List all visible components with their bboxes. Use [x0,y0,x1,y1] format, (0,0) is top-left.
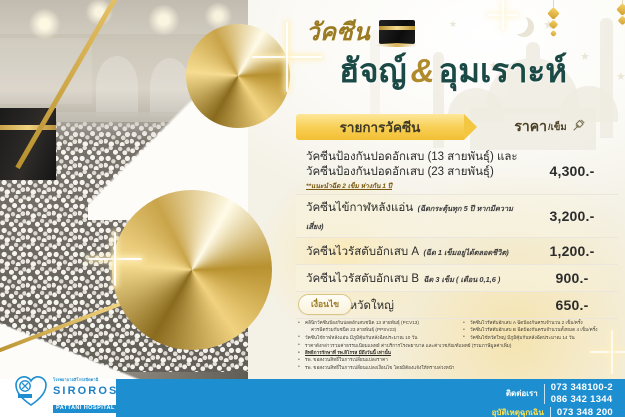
vaccine-name-line-1: วัคซีนไวรัสตับอักเสบ A [306,246,419,258]
vaccine-name-line-1: วัคซีนไวรัสตับอักเสบ B [306,273,419,285]
contact-info: ติดต่อเรา 073 348100-2 086 342 1344 อุบั… [492,382,613,417]
emergency-phone-row: อุบัติเหตุฉุกเฉิน 073 348 200 [492,406,613,417]
vaccine-name-cell: วัคซีนไวรัสตับอักเสบ A (ฉีด 1 เข็มอยู่ได… [296,242,526,260]
table-row: วัคซีนป้องกันปอดอักเสบ (13 สายพันธุ์) แล… [296,147,618,195]
phone-number[interactable]: 073 348100-2 [551,382,613,394]
condition-item: วัคซีนไวรัสตับอักเสบ B ฉีดป้องกันครบจำนว… [463,326,618,333]
hospital-logo: โรงพยาบาลสิโรรสปัตตานี SIROROS PATTANI H… [14,369,118,413]
condition-item-link[interactable]: สิทธิการรักษาที่ รพ.สิโรรส มีถึงวันนี้ เ… [298,349,618,356]
conditions-columns: คลินิกวัคซีนป้องกันปอดอักเสบชนิด 13 สายพ… [298,319,618,341]
conditions-column-right: วัคซีนไวรัสตับอักเสบ A ฉีดป้องกันครบจำนว… [463,319,618,341]
footer: โรงพยาบาลสิโรรสปัตตานี SIROROS PATTANI H… [0,379,625,417]
contact-label: ติดต่อเรา [506,387,538,400]
logo-text: โรงพยาบาลสิโรรสปัตตานี SIROROS PATTANI H… [53,369,118,413]
contact-phone-numbers: 073 348100-2 086 342 1344 [551,382,613,405]
vaccine-price-cell: 900.- [526,270,618,286]
contact-phone-row: ติดต่อเรา 073 348100-2 086 342 1344 [492,382,613,405]
phone-number[interactable]: 086 342 1344 [551,394,613,406]
vaccine-name-line-1: วัคซีนไข้กาฬหลังแอ่น [306,202,413,214]
table-row: วัคซีนไข้กาฬหลังแอ่น (ฉีดกระตุ้นทุก 5 ปี… [296,195,618,238]
column-header-price: ราคา /เข็ม [464,114,618,140]
condition-item: วัคซีนไข้หวัดใหญ่ มีภูมิคุ้มกันหลังฉีดปร… [463,334,618,341]
price-table: รายการวัคซีน ราคา /เข็ม [296,113,618,319]
conditions-badge: เงื่อนไข [298,294,352,315]
vaccine-name-cell: วัคซีนไข้กาฬหลังแอ่น (ฉีดกระตุ้นทุก 5 ปี… [296,198,526,234]
condition-item: รพ. ขอสงวนสิทธิ์ในการเปลี่ยนแปลงราคา [298,356,618,363]
table-header-row: รายการวัคซีน ราคา /เข็ม [296,113,618,141]
emergency-phone-number[interactable]: 073 348 200 [557,407,613,417]
couple-photo-bg [118,196,266,344]
vial-label [264,90,286,112]
conditions-column-left: คลินิกวัคซีนป้องกันปอดอักเสบชนิด 13 สายพ… [298,319,453,341]
vaccine-name-line-2: วัคซีนป้องกันปอดอักเสบ (23 สายพันธุ์) [306,165,526,180]
condition-item: วัคซีนไวรัสตับอักเสบ A ฉีดป้องกันครบจำนว… [463,319,618,326]
ampersand: & [407,52,439,89]
logo-thai-name: โรงพยาบาลสิโรรสปัตตานี [53,377,98,382]
divider [544,384,545,404]
column-header-vaccine-name: รายการวัคซีน [296,114,464,140]
pilgrim-couple-photo [118,196,266,344]
headline-line-2: ฮัจญ์&อุมเราะห์ [284,44,622,97]
vaccine-price-cell: 3,200.- [526,208,618,224]
syringe-icon [572,118,586,137]
vial-icon [224,80,250,122]
condition-item: ราคาดังกล่าวรวมค่าธรรมเนียมแพทย์ ค่าบริก… [298,342,618,349]
headline: วัคซีน ฮัจญ์&อุมเราะห์ [284,16,622,97]
vaccine-note: (ฉีด 1 เข็มอยู่ได้ตลอดชีวิต) [423,248,508,257]
headline-line-1: วัคซีน [284,16,622,46]
heart-cross-logo-icon [14,375,48,407]
man-head [156,224,184,256]
condition-item: คลินิกวัคซีนป้องกันปอดอักเสบชนิด 13 สายพ… [298,319,453,326]
table-row: วัคซีนไวรัสตับอักเสบ A (ฉีด 1 เข็มอยู่ได… [296,238,618,265]
condition-item: รพ. ขอสงวนสิทธิ์ในการเปลี่ยนแปลงเงื่อนไข… [298,364,618,371]
kaaba-icon [376,16,418,46]
column-header-price-unit: /เข็ม [548,120,567,135]
vaccine-price-cell: 1,200.- [526,243,618,259]
building-shape [0,38,92,104]
logo-subtitle: PATTANI HOSPITAL [53,405,118,413]
vaccine-name-cell: วัคซีนไวรัสตับอักเสบ B ฉีด 3 เข็ม ( เดือ… [296,269,526,287]
conditions-full-width: ราคาดังกล่าวรวมค่าธรรมเนียมแพทย์ ค่าบริก… [298,342,618,371]
logo-name: SIROROS [53,386,118,397]
vaccine-footnote: **แนะนำฉีด 2 เข็ม ห่างกัน 1 ปี [306,180,526,191]
vaccine-vial-photo [186,24,290,128]
table-row: วัคซีนไวรัสตับอักเสบ B ฉีด 3 เข็ม ( เดือ… [296,265,618,292]
emergency-label: อุบัติเหตุฉุกเฉิน [492,406,544,417]
condition-item: วัคซีนไข้กาฬหลังแอ่น มีภูมิคุ้มกันหลังฉี… [298,334,453,341]
condition-item: ควรฉีดร่วมกับชนิด 23 สายพันธุ์ (PPSV23) [298,326,453,333]
column-header-vaccine-name-label: รายการวัคซีน [340,116,421,138]
divider [550,407,551,417]
vaccine-name-line-1: วัคซีนป้องกันปอดอักเสบ (13 สายพันธุ์) แล… [306,150,526,165]
conditions-section: เงื่อนไข คลินิกวัคซีนป้องกันปอดอักเสบชนิ… [298,294,618,371]
vaccine-price-cell: 4,300.- [526,163,618,179]
headline-umrah-word: อุมเราะห์ [438,52,567,89]
vaccine-note: ฉีด 3 เข็ม ( เดือน 0,1,6 ) [423,275,500,284]
column-header-price-label: ราคา [514,116,547,138]
vaccine-name-cell: วัคซีนป้องกันปอดอักเสบ (13 สายพันธุ์) แล… [296,150,526,191]
headline-hajj-word: ฮัจญ์ [339,52,407,89]
poster-root: ★ ★ ★ ★ ★ [0,0,625,417]
